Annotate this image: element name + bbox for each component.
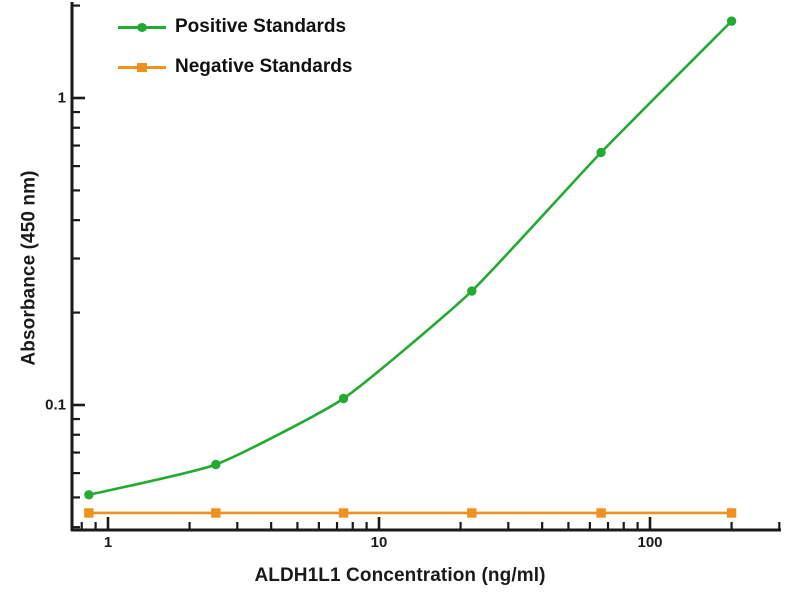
data-point-negative[interactable] <box>727 509 735 517</box>
data-point-positive[interactable] <box>85 491 93 499</box>
y-axis-title: Absorbance (450 nm) <box>19 170 41 365</box>
x-axis-ticks <box>82 517 780 530</box>
x-axis-title: ALDH1L1 Concentration (ng/ml) <box>0 565 800 587</box>
y-axis-ticks <box>72 6 85 528</box>
x-tick-label: 1 <box>104 534 112 551</box>
chart-canvas <box>0 0 800 600</box>
axis-lines <box>71 2 781 531</box>
legend-swatch-negative <box>118 60 166 74</box>
data-point-positive[interactable] <box>468 287 476 295</box>
data-point-negative[interactable] <box>85 509 93 517</box>
legend-label-positive: Positive Standards <box>175 16 346 38</box>
series-line-positive <box>89 21 732 495</box>
x-tick-label: 10 <box>371 534 388 551</box>
data-point-negative[interactable] <box>339 509 347 517</box>
legend-label-negative: Negative Standards <box>175 56 352 78</box>
data-point-positive[interactable] <box>212 460 220 468</box>
data-point-negative[interactable] <box>212 509 220 517</box>
data-point-positive[interactable] <box>597 148 605 156</box>
legend-marker-negative <box>137 63 147 72</box>
x-tick-label: 100 <box>637 534 662 551</box>
y-axis-title-wrap: Absorbance (450 nm) <box>0 0 60 535</box>
legend-item-negative[interactable]: Negative Standards <box>118 56 352 78</box>
chart-figure: 1101000.11 Absorbance (450 nm) ALDH1L1 C… <box>0 0 800 600</box>
data-point-positive[interactable] <box>727 17 735 25</box>
data-point-negative[interactable] <box>597 509 605 517</box>
legend-marker-positive <box>137 23 147 32</box>
legend-item-positive[interactable]: Positive Standards <box>118 16 346 38</box>
data-point-positive[interactable] <box>339 394 347 402</box>
data-point-negative[interactable] <box>468 509 476 517</box>
legend-swatch-positive <box>118 20 166 34</box>
data-series-layer <box>85 17 736 517</box>
